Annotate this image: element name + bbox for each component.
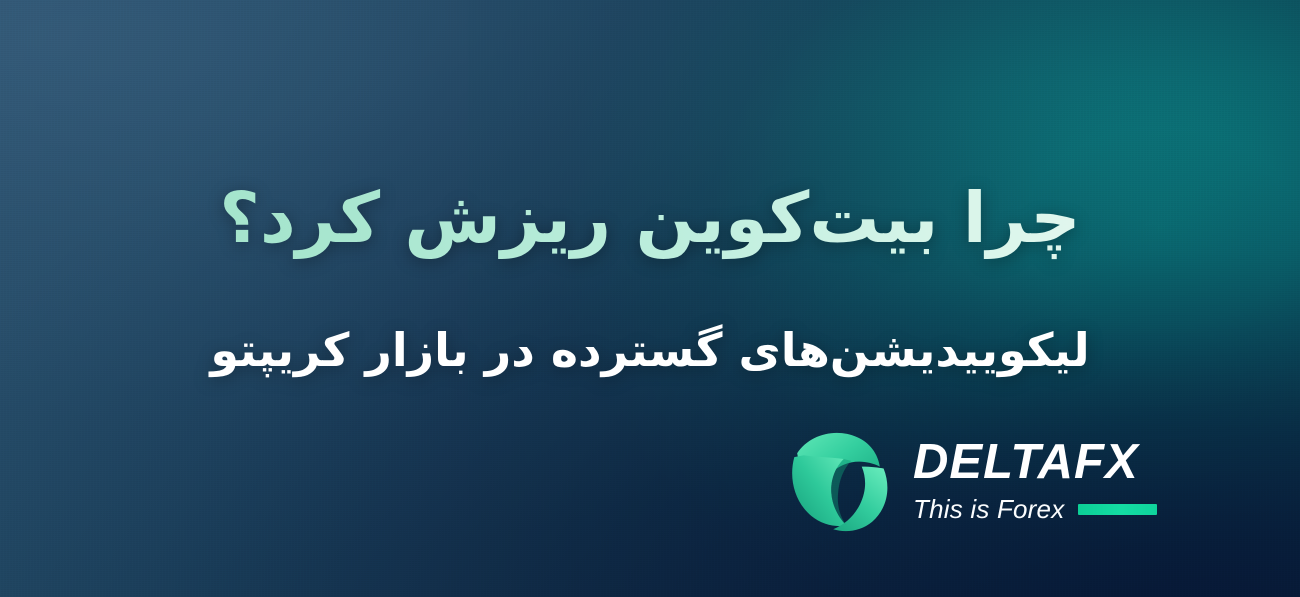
logo-accent-bar	[1078, 504, 1157, 515]
logo-wordmark: DELTAFX	[913, 438, 1139, 487]
logo-tagline: This is Forex	[913, 496, 1064, 522]
deltafx-promo-banner: چرا بیت‌کوین ریزش کرد؟ لیکوییدیشن‌های گس…	[0, 0, 1300, 597]
banner-subheadline: لیکوییدیشن‌های گسترده در بازار کریپتو	[0, 321, 1300, 381]
deltafx-pinwheel-icon	[781, 421, 895, 535]
banner-content: چرا بیت‌کوین ریزش کرد؟ لیکوییدیشن‌های گس…	[0, 0, 1300, 597]
logo-tagline-row: This is Forex	[913, 496, 1157, 522]
logo-text-block: DELTAFX This is Forex	[913, 434, 1157, 522]
banner-headline: چرا بیت‌کوین ریزش کرد؟	[0, 175, 1300, 263]
deltafx-logo-lockup: DELTAFX This is Forex	[781, 421, 1157, 535]
